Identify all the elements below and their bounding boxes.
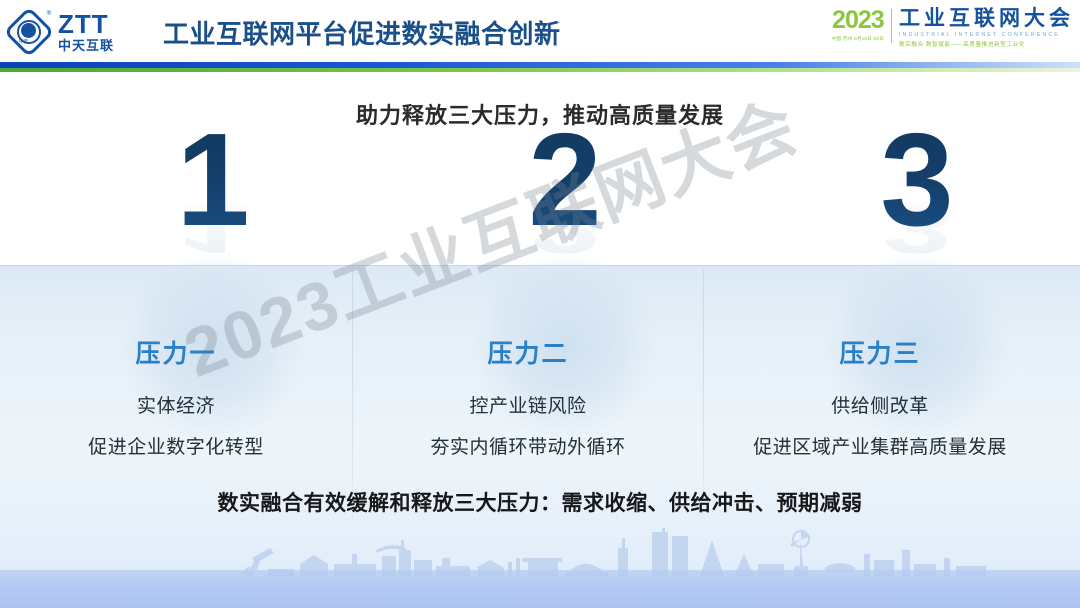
- company-logo-text: ZTT 中天互联: [58, 11, 114, 52]
- pressure-column-2: 压力二 控产业链风险 夯实内循环带动外循环: [352, 334, 704, 459]
- conference-slogan: 数实融合 数智赋能——高质量推进新型工业化: [899, 40, 1074, 48]
- conclusion-text: 数实融合有效缓解和释放三大压力：需求收缩、供给冲击、预期减弱: [0, 487, 1080, 517]
- slide-header: ® 中天 ZTT 中天互联 工业互联网平台促进数实融合创新 2023 中国·苏州…: [0, 0, 1080, 62]
- conference-logo: 2023 中国·苏州 8月19日-20日 工业互联网大会 INDUSTRIAL …: [832, 8, 1074, 48]
- big-number-reflection-2: 2: [470, 191, 660, 264]
- pressure-line2-2: 夯实内循环带动外循环: [352, 432, 704, 459]
- conference-name-cn: 工业互联网大会: [899, 8, 1074, 30]
- logo-dot-shape: [21, 23, 36, 38]
- conference-name-block: 工业互联网大会 INDUSTRIAL INTERNET CONFERENCE 数…: [899, 8, 1074, 48]
- company-logo-latin: ZTT: [58, 11, 114, 37]
- big-number-reflection-1: 1: [118, 191, 308, 264]
- conference-year: 2023: [832, 8, 884, 33]
- pressure-line2-1: 促进企业数字化转型: [0, 432, 352, 459]
- conference-logo-divider: [891, 9, 892, 43]
- pressure-heading-2: 压力二: [352, 334, 704, 370]
- pressure-line1-3: 供给侧改革: [704, 391, 1056, 418]
- header-divider-green: [0, 68, 1080, 72]
- company-logo-chinese: 中天互联: [58, 39, 114, 52]
- pressure-column-3: 压力三 供给侧改革 促进区域产业集群高质量发展: [704, 334, 1056, 459]
- big-number-reflection-3: 3: [822, 191, 1012, 264]
- company-logo: ® 中天 ZTT 中天互联: [8, 6, 148, 56]
- slide-body: 助力释放三大压力，推动高质量发展 1 2 3 1 2 3 2023工业互联网大会…: [0, 72, 1080, 608]
- pressure-line1-2: 控产业链风险: [352, 391, 704, 418]
- pressure-heading-1: 压力一: [0, 334, 352, 370]
- skyline-decoration: [0, 530, 1080, 608]
- logo-mark-cn-text: 中天: [19, 38, 28, 45]
- skyline-water-band: [0, 570, 1080, 608]
- ztt-diamond-logo-icon: ® 中天: [8, 8, 54, 54]
- pressure-line2-3: 促进区域产业集群高质量发展: [704, 432, 1056, 459]
- pressure-line1-1: 实体经济: [0, 391, 352, 418]
- page-title: 工业互联网平台促进数实融合创新: [163, 14, 561, 51]
- conference-date-place: 中国·苏州 8月19日-20日: [832, 36, 884, 42]
- conference-year-block: 2023 中国·苏州 8月19日-20日: [832, 8, 884, 42]
- registered-mark: ®: [47, 11, 51, 17]
- pressure-column-1: 压力一 实体经济 促进企业数字化转型: [0, 334, 352, 459]
- conference-name-en: INDUSTRIAL INTERNET CONFERENCE: [899, 32, 1074, 38]
- pressure-heading-3: 压力三: [704, 334, 1056, 370]
